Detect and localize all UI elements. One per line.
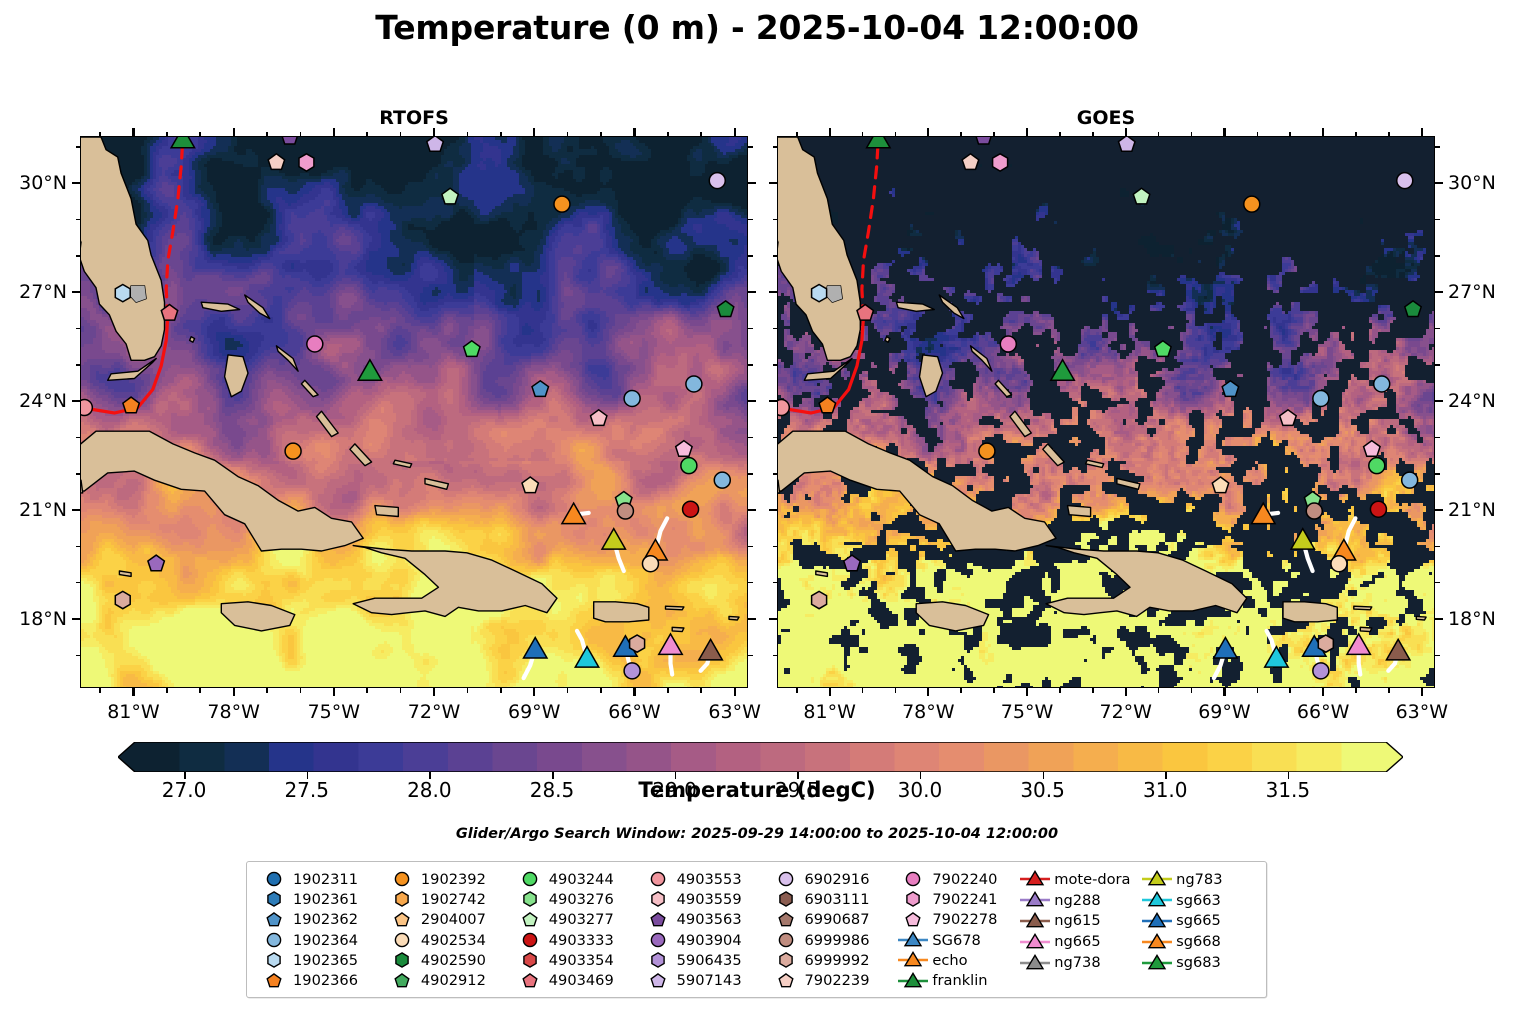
legend-item-5906435[interactable]: 5906435 (641, 950, 769, 970)
legend-item-SG678[interactable]: SG678 (896, 930, 1018, 950)
triangle-marker-icon (1140, 953, 1174, 973)
axis-tick (76, 146, 81, 148)
axis-tick (748, 255, 753, 257)
axis-tick (366, 132, 368, 137)
axis-tick (199, 132, 201, 137)
axis-tick (1435, 473, 1440, 475)
axis-tick (1388, 132, 1390, 137)
legend-item-1902362[interactable]: 1902362 (257, 910, 385, 930)
legend-item-label: 4903563 (675, 911, 742, 928)
circle-marker-icon (385, 869, 419, 889)
axis-tick (748, 291, 756, 293)
axis-tick (400, 132, 402, 137)
axis-tick (769, 400, 777, 402)
axis-tick (1435, 546, 1440, 548)
axis-tick (1435, 182, 1443, 184)
xtick-label-left: 72°W (408, 701, 460, 723)
xtick-label-right: 66°W (1297, 701, 1349, 723)
legend-item-6990687[interactable]: 6990687 (769, 910, 897, 930)
axis-tick (1026, 128, 1028, 136)
axis-tick (773, 473, 778, 475)
map-marker-6902916[interactable] (709, 173, 725, 189)
axis-tick (769, 618, 777, 620)
legend-item-7902278[interactable]: 7902278 (896, 910, 1018, 930)
map-panel-rtofs[interactable]: RTOFS (80, 136, 748, 688)
axis-tick (567, 688, 569, 693)
legend-item-label: 5906435 (675, 952, 742, 969)
hexagon-marker-icon (769, 950, 803, 970)
legend-item-mote-dora[interactable]: mote-dora (1018, 869, 1140, 890)
circle-marker-icon (896, 869, 930, 889)
axis-tick (333, 128, 335, 136)
legend-item-1902366[interactable]: 1902366 (257, 971, 385, 991)
triangle-marker-icon (1018, 932, 1052, 952)
xtick-label-right: 78°W (902, 701, 954, 723)
legend-item-5907143[interactable]: 5907143 (641, 971, 769, 991)
axis-tick (748, 582, 753, 584)
legend-item-label: ng665 (1052, 933, 1100, 950)
triangle-marker-icon (1140, 911, 1174, 931)
axis-tick (862, 688, 864, 693)
map-marker-5906435[interactable] (624, 663, 640, 679)
axis-tick (467, 132, 469, 137)
axis-tick (1355, 688, 1357, 693)
axis-tick (773, 582, 778, 584)
legend-item-sg665[interactable]: sg665 (1140, 911, 1260, 932)
legend-item-label: ng738 (1052, 954, 1100, 971)
axis-tick (1435, 582, 1440, 584)
map-marker-7902240[interactable] (307, 336, 323, 352)
axis-tick (1435, 437, 1440, 439)
axis-tick (927, 688, 929, 696)
legend-item-sg668[interactable]: sg668 (1140, 931, 1260, 952)
axis-tick (748, 400, 756, 402)
axis-tick (1435, 655, 1440, 657)
map-marker-6999992[interactable] (115, 591, 130, 608)
axis-tick (773, 255, 778, 257)
map-marker-4902534b[interactable] (642, 556, 658, 572)
legend-item-6999992[interactable]: 6999992 (769, 950, 897, 970)
legend-item-label: 7902240 (930, 871, 997, 888)
legend-column-8: ng783sg663sg665sg668sg683 (1140, 869, 1260, 991)
axis-tick (1191, 688, 1193, 693)
legend-item-label: 7902241 (930, 891, 997, 908)
legend-item-label: 4902912 (419, 972, 486, 989)
hexagon-marker-icon (257, 889, 291, 909)
legend-item-4903276[interactable]: 4903276 (513, 889, 641, 909)
legend-column-3: 4903244490327649032774903333490335449034… (513, 869, 641, 991)
axis-tick (633, 688, 635, 696)
axis-tick (960, 132, 962, 137)
axis-tick (1092, 688, 1094, 693)
map-marker-1902365[interactable] (115, 285, 130, 302)
map-marker-1902392b[interactable] (285, 443, 301, 459)
legend-item-ng738[interactable]: ng738 (1018, 952, 1140, 973)
map-marker-7902241[interactable] (993, 154, 1008, 171)
axis-tick (72, 291, 80, 293)
axis-tick (773, 655, 778, 657)
axis-tick (748, 618, 756, 620)
axis-tick (895, 688, 897, 693)
axis-tick (72, 618, 80, 620)
map-marker-6999986[interactable] (1306, 503, 1322, 519)
axis-tick (1125, 128, 1127, 136)
legend-item-1902361[interactable]: 1902361 (257, 889, 385, 909)
axis-tick (748, 655, 753, 657)
axis-tick (748, 146, 753, 148)
legend-item-label: sg665 (1174, 912, 1221, 929)
circle-marker-icon (641, 930, 675, 950)
triangle-marker-icon (896, 971, 930, 991)
pentagon-marker-icon (513, 910, 547, 930)
map-marker-5907143[interactable] (427, 137, 444, 151)
axis-tick (1158, 688, 1160, 693)
axis-tick (233, 688, 235, 696)
legend-item-4903559[interactable]: 4903559 (641, 889, 769, 909)
map-marker-5907143[interactable] (1119, 137, 1136, 151)
axis-tick (76, 328, 81, 330)
legend-item-franklin[interactable]: franklin (896, 971, 1018, 991)
pentagon-marker-icon (896, 910, 930, 930)
map-marker-1902392[interactable] (1244, 196, 1260, 212)
legend-item-2904007[interactable]: 2904007 (385, 910, 513, 930)
legend-item-7902239[interactable]: 7902239 (769, 971, 897, 991)
legend-item-1902742[interactable]: 1902742 (385, 889, 513, 909)
axis-tick (433, 128, 435, 136)
pentagon-marker-icon (257, 971, 291, 991)
legend-item-6999986[interactable]: 6999986 (769, 930, 897, 950)
axis-tick (796, 132, 798, 137)
axis-tick (76, 255, 81, 257)
xtick-label-right: 75°W (1001, 701, 1053, 723)
triangle-marker-icon (1018, 890, 1052, 910)
axis-tick (72, 182, 80, 184)
legend-item-sg683[interactable]: sg683 (1140, 952, 1260, 973)
map-marker-1902364c[interactable] (1402, 472, 1418, 488)
axis-tick (72, 509, 80, 511)
axis-tick (333, 688, 335, 696)
axis-tick (76, 364, 81, 366)
map-marker-7902240[interactable] (1000, 336, 1016, 352)
axis-tick (99, 688, 101, 693)
map-marker-4903553[interactable] (778, 400, 789, 416)
legend-item-label: 4903553 (675, 871, 742, 888)
axis-tick (773, 328, 778, 330)
legend-item-label: ng288 (1052, 892, 1100, 909)
legend-item-1902365[interactable]: 1902365 (257, 950, 385, 970)
axis-tick (667, 688, 669, 693)
pentagon-marker-icon (513, 971, 547, 991)
map-marker-4903244[interactable] (681, 458, 697, 474)
axis-tick (567, 132, 569, 137)
axis-tick (773, 146, 778, 148)
legend-item-label: 1902742 (419, 891, 486, 908)
legend-item-label: 2904007 (419, 911, 486, 928)
ytick-label-left: 24°N (19, 390, 67, 412)
pentagon-marker-icon (769, 910, 803, 930)
legend-item-ng783[interactable]: ng783 (1140, 869, 1260, 890)
map-marker-6999986[interactable] (617, 503, 633, 519)
map-panel-goes[interactable]: GOES (777, 136, 1435, 688)
axis-tick (76, 582, 81, 584)
legend-item-1902392[interactable]: 1902392 (385, 869, 513, 889)
axis-tick (76, 473, 81, 475)
legend-item-label: 4903904 (675, 932, 742, 949)
legend-item-4902912[interactable]: 4902912 (385, 971, 513, 991)
map-marker-1902364c[interactable] (714, 472, 730, 488)
map-marker-1902392b[interactable] (979, 443, 995, 459)
ytick-label-right: 18°N (1448, 608, 1496, 630)
hexagon-marker-icon (513, 889, 547, 909)
axis-tick (300, 132, 302, 137)
triangle-marker-icon (1140, 932, 1174, 952)
axis-tick (600, 132, 602, 137)
axis-tick (500, 132, 502, 137)
axis-tick (500, 688, 502, 693)
axis-tick (769, 182, 777, 184)
axis-tick (748, 182, 756, 184)
map-marker-4903244[interactable] (1369, 458, 1385, 474)
ytick-label-left: 30°N (19, 172, 67, 194)
map-marker-4903563[interactable] (975, 137, 991, 144)
axis-tick (533, 128, 535, 136)
axis-tick (633, 128, 635, 136)
circle-marker-icon (513, 930, 547, 950)
ytick-label-right: 21°N (1448, 499, 1496, 521)
circle-marker-icon (513, 869, 547, 889)
legend-item-label: 7902278 (930, 911, 997, 928)
circle-marker-icon (769, 930, 803, 950)
axis-tick (748, 437, 753, 439)
legend-column-7: mote-dorang288ng615ng665ng738 (1018, 869, 1140, 991)
axis-tick (927, 128, 929, 136)
legend-item-ng615[interactable]: ng615 (1018, 911, 1140, 932)
axis-tick (748, 364, 753, 366)
legend-item-4903244[interactable]: 4903244 (513, 869, 641, 889)
map-marker-1902364[interactable] (686, 376, 702, 392)
legend-item-4903354[interactable]: 4903354 (513, 950, 641, 970)
circle-marker-icon (257, 930, 291, 950)
legend-item-label: mote-dora (1052, 871, 1130, 888)
axis-tick (734, 688, 736, 696)
legend-item-4903333[interactable]: 4903333 (513, 930, 641, 950)
legend-item-ng665[interactable]: ng665 (1018, 931, 1140, 952)
axes-goes (777, 136, 1435, 688)
map-marker-6999992[interactable] (812, 591, 827, 608)
legend-item-label: 6999992 (803, 952, 870, 969)
map-marker-4903553[interactable] (81, 400, 92, 416)
legend-item-label: 1902311 (291, 871, 358, 888)
legend-item-1902364[interactable]: 1902364 (257, 930, 385, 950)
legend-item-label: 4903469 (547, 972, 614, 989)
colorbar-gradient (118, 742, 1403, 772)
pentagon-marker-icon (385, 910, 419, 930)
axis-tick (1388, 688, 1390, 693)
axis-tick (1435, 364, 1440, 366)
axis-tick (1257, 132, 1259, 137)
axis-tick (76, 655, 81, 657)
axis-tick (467, 688, 469, 693)
legend-item-label: 6902916 (803, 871, 870, 888)
legend-item-4903553[interactable]: 4903553 (641, 869, 769, 889)
axis-tick (993, 688, 995, 693)
axis-tick (1435, 255, 1440, 257)
hexagon-marker-icon (769, 889, 803, 909)
legend-item-label: 6990687 (803, 911, 870, 928)
legend-item-label: 1902392 (419, 871, 486, 888)
map-marker-7902241[interactable] (299, 154, 314, 171)
triangle-marker-icon (1140, 890, 1174, 910)
legend-item-label: 1902364 (291, 932, 358, 949)
axis-tick (1059, 688, 1061, 693)
legend-item-sg663[interactable]: sg663 (1140, 890, 1260, 911)
legend-item-label: SG678 (930, 932, 980, 949)
axis-tick (76, 219, 81, 221)
xtick-label-right: 72°W (1100, 701, 1152, 723)
figure-canvas: Temperature (0 m) - 2025-10-04 12:00:00 … (0, 0, 1514, 1014)
axis-tick (667, 132, 669, 137)
figure-title: Temperature (0 m) - 2025-10-04 12:00:00 (0, 8, 1514, 47)
legend-item-7902241[interactable]: 7902241 (896, 889, 1018, 909)
legend-item-label: 6903111 (803, 891, 870, 908)
legend-item-6902916[interactable]: 6902916 (769, 869, 897, 889)
axis-tick (748, 509, 756, 511)
legend-item-label: 4902534 (419, 932, 486, 949)
ytick-label-left: 27°N (19, 281, 67, 303)
legend-item-4902534[interactable]: 4902534 (385, 930, 513, 950)
axis-tick (700, 132, 702, 137)
axis-tick (700, 688, 702, 693)
map-marker-4902534b[interactable] (1331, 556, 1347, 572)
axis-tick (266, 132, 268, 137)
xtick-label-right: 69°W (1198, 701, 1250, 723)
legend-column-6: 790224079022417902278SG678echofranklin (896, 869, 1018, 991)
hexagon-marker-icon (641, 950, 675, 970)
pentagon-marker-icon (257, 910, 291, 930)
legend-item-4903469[interactable]: 4903469 (513, 971, 641, 991)
axis-tick (1092, 132, 1094, 137)
axis-tick (533, 688, 535, 696)
map-marker-4903333[interactable] (1370, 501, 1386, 517)
axis-tick (233, 128, 235, 136)
triangle-marker-icon (896, 930, 930, 950)
axis-tick (72, 400, 80, 402)
ytick-label-right: 27°N (1448, 281, 1496, 303)
triangle-marker-icon (1018, 911, 1052, 931)
axis-tick (773, 219, 778, 221)
legend-item-6903111[interactable]: 6903111 (769, 889, 897, 909)
axis-tick (748, 219, 753, 221)
map-marker-6902916[interactable] (1397, 173, 1413, 189)
legend-item-1902311[interactable]: 1902311 (257, 869, 385, 889)
legend-item-label: 4903559 (675, 891, 742, 908)
map-image-rtofs (81, 137, 748, 688)
axis-tick (1435, 146, 1440, 148)
axis-tick (600, 688, 602, 693)
legend-item-ng288[interactable]: ng288 (1018, 890, 1140, 911)
legend-item-label: 4903333 (547, 932, 614, 949)
axis-tick (862, 132, 864, 137)
axis-tick (1322, 688, 1324, 696)
legend-item-label: sg663 (1174, 892, 1221, 909)
legend-item-label: sg668 (1174, 933, 1221, 950)
axis-tick (993, 132, 995, 137)
map-marker-4903563[interactable] (282, 137, 299, 144)
pentagon-marker-icon (769, 971, 803, 991)
axis-tick (1026, 688, 1028, 696)
legend-item-4903563[interactable]: 4903563 (641, 910, 769, 930)
axis-tick (132, 688, 134, 696)
ytick-label-left: 21°N (19, 499, 67, 521)
legend-item-4903904[interactable]: 4903904 (641, 930, 769, 950)
axis-tick (829, 128, 831, 136)
pentagon-marker-icon (385, 971, 419, 991)
xtick-label-left: 69°W (508, 701, 560, 723)
map-marker-1902392[interactable] (554, 196, 570, 212)
legend-item-4902590[interactable]: 4902590 (385, 950, 513, 970)
ytick-label-right: 30°N (1448, 172, 1496, 194)
map-marker-1902364[interactable] (1374, 376, 1390, 392)
circle-marker-icon (769, 869, 803, 889)
axis-tick (1191, 132, 1193, 137)
pentagon-marker-icon (641, 971, 675, 991)
triangle-marker-icon (896, 950, 930, 970)
ytick-label-right: 24°N (1448, 390, 1496, 412)
map-marker-4903333[interactable] (683, 501, 699, 517)
colorbar[interactable] (118, 742, 1403, 772)
legend-item-4903277[interactable]: 4903277 (513, 910, 641, 930)
map-marker-6999986b[interactable] (630, 635, 645, 652)
map-marker-1902365[interactable] (812, 285, 827, 302)
axis-tick (960, 688, 962, 693)
legend-item-label: 1902361 (291, 891, 358, 908)
hexagon-marker-icon (641, 889, 675, 909)
legend-column-4: 4903553490355949035634903904590643559071… (641, 869, 769, 991)
axis-tick (748, 546, 753, 548)
axis-tick (199, 688, 201, 693)
legend-item-label: 6999986 (803, 932, 870, 949)
axis-tick (266, 688, 268, 693)
axis-tick (76, 546, 81, 548)
map-marker-1902364b[interactable] (1313, 390, 1329, 406)
hexagon-marker-icon (896, 889, 930, 909)
axis-tick (769, 509, 777, 511)
legend[interactable]: 1902311190236119023621902364190236519023… (246, 861, 1267, 998)
circle-marker-icon (257, 869, 291, 889)
panel-title-goes: GOES (777, 107, 1435, 129)
axis-tick (734, 128, 736, 136)
map-marker-6999986b[interactable] (1318, 635, 1333, 652)
axis-tick (1355, 132, 1357, 137)
axis-tick (132, 128, 134, 136)
legend-item-echo[interactable]: echo (896, 950, 1018, 970)
xtick-label-left: 75°W (308, 701, 360, 723)
xtick-label-left: 66°W (608, 701, 660, 723)
axis-tick (1125, 688, 1127, 696)
legend-item-label: franklin (930, 972, 987, 989)
map-marker-5906435[interactable] (1313, 663, 1329, 679)
search-window-caption: Glider/Argo Search Window: 2025-09-29 14… (0, 826, 1514, 842)
legend-item-7902240[interactable]: 7902240 (896, 869, 1018, 889)
axis-tick (1322, 128, 1324, 136)
legend-item-label: 4903244 (547, 871, 614, 888)
axis-tick (1223, 128, 1225, 136)
map-marker-1902364b[interactable] (624, 390, 640, 406)
axis-tick (400, 688, 402, 693)
legend-item-label: 4903276 (547, 891, 614, 908)
colorbar-label: Temperature (degC) (0, 778, 1514, 802)
legend-item-label: 1902362 (291, 911, 358, 928)
